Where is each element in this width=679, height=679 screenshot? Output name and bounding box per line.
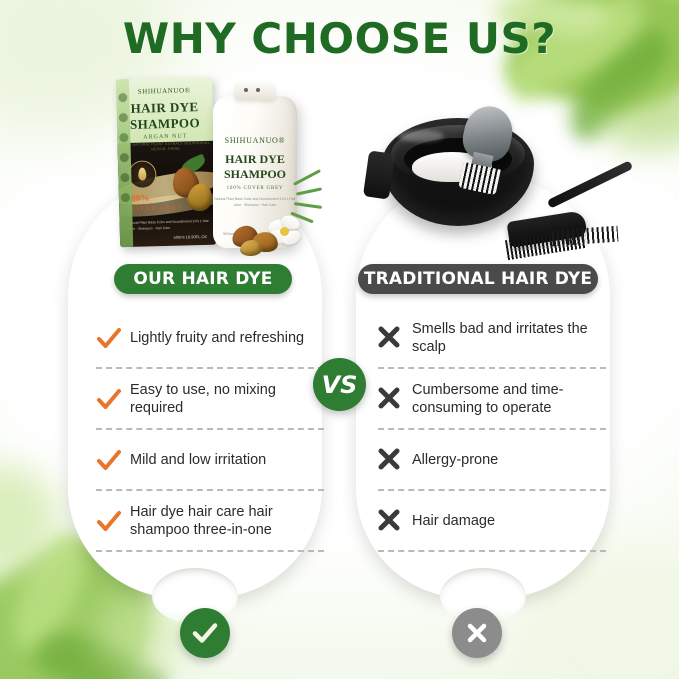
- list-separator: [96, 550, 324, 552]
- brush-comb-teeth: [552, 226, 619, 247]
- bottle-brand-text: SHIHUANUO®: [213, 136, 297, 145]
- list-separator: [96, 428, 324, 430]
- list-item: Mild and low irritation: [96, 438, 324, 484]
- box-volume-text: 500ml 16.90FL.OZ: [174, 234, 207, 240]
- bottle-cap: [235, 82, 275, 100]
- list-item: Lightly fruity and refreshing: [96, 316, 324, 362]
- box-side-icon-6: [121, 193, 130, 202]
- list-separator: [378, 428, 606, 430]
- box-side-icon-5: [120, 173, 129, 182]
- box-fineprint-text: PURE NATURAL PLANT EXTRACT NOURISHING, R…: [117, 141, 213, 154]
- flower-core: [280, 227, 289, 236]
- tint-brush-image: [500, 182, 630, 260]
- check-icon: [96, 326, 122, 352]
- verdict-badge-positive: [180, 608, 230, 658]
- box-side-icon-2: [119, 113, 128, 122]
- list-separator: [96, 367, 324, 369]
- bowl-handle: [363, 150, 395, 199]
- feature-text: Smells bad and irritates the scalp: [412, 321, 606, 356]
- feature-text: Hair damage: [412, 513, 495, 531]
- page-title: WHY CHOOSE US?: [0, 14, 679, 63]
- infographic-canvas: WHY CHOOSE US? SHIHUANUO® HAIR DYE SHAMP…: [0, 0, 679, 679]
- label-traditional-hair-dye: TRADITIONAL HAIR DYE: [358, 264, 598, 294]
- bottle-title-line2: SHAMPOO: [213, 167, 297, 182]
- bottle-title-line1: HAIR DYE: [213, 152, 297, 167]
- box-side-icon-4: [120, 153, 129, 162]
- list-item: Smells bad and irritates the scalp: [378, 316, 606, 362]
- list-item: Hair damage: [378, 499, 606, 545]
- cross-icon: [378, 509, 404, 535]
- cross-icon: [378, 387, 404, 413]
- box-side-icon-3: [119, 133, 128, 142]
- box-side-icon-1: [118, 93, 127, 102]
- feature-text: Lightly fruity and refreshing: [130, 330, 304, 348]
- product-box-image: SHIHUANUO® HAIR DYE SHAMPOO ARGAN NUT PU…: [116, 77, 216, 247]
- box-title-line2: SHAMPOO: [117, 115, 213, 134]
- vs-badge: VS: [313, 358, 366, 411]
- cross-icon: [378, 448, 404, 474]
- check-icon: [190, 618, 220, 648]
- feature-list-traditional: Smells bad and irritates the scalp Cumbe…: [378, 316, 606, 560]
- list-separator: [96, 489, 324, 491]
- list-item: Hair dye hair care hair shampoo three-in…: [96, 499, 324, 545]
- box-details-text: Natural Plant Base Color and Nourishment…: [128, 219, 216, 233]
- feature-text: Mild and low irritation: [130, 452, 266, 470]
- bottle-claim-text: 100% COVER GREY: [213, 186, 297, 191]
- box-claim-text: COVER GREY: [127, 204, 184, 213]
- label-our-hair-dye: OUR HAIR DYE: [114, 264, 292, 294]
- cross-icon: [378, 326, 404, 352]
- feature-text: Hair dye hair care hair shampoo three-in…: [130, 504, 324, 539]
- list-separator: [378, 367, 606, 369]
- bowl-highlight: [398, 130, 444, 142]
- feature-list-ours: Lightly fruity and refreshing Easy to us…: [96, 316, 324, 560]
- check-icon: [96, 448, 122, 474]
- feature-text: Cumbersome and time-consuming to operate: [412, 382, 606, 417]
- verdict-badge-negative: [452, 608, 502, 658]
- feature-text: Allergy-prone: [412, 452, 498, 470]
- cross-icon: [462, 618, 492, 648]
- list-separator: [378, 550, 606, 552]
- list-item: Cumbersome and time-consuming to operate: [378, 377, 606, 423]
- feature-text: Easy to use, no mixing required: [130, 382, 324, 417]
- list-separator: [378, 489, 606, 491]
- bottle-details-text: Natural Plant Base Color and Nourishment…: [213, 196, 297, 208]
- list-item: Easy to use, no mixing required: [96, 377, 324, 423]
- check-icon: [96, 509, 122, 535]
- check-icon: [96, 387, 122, 413]
- list-item: Allergy-prone: [378, 438, 606, 484]
